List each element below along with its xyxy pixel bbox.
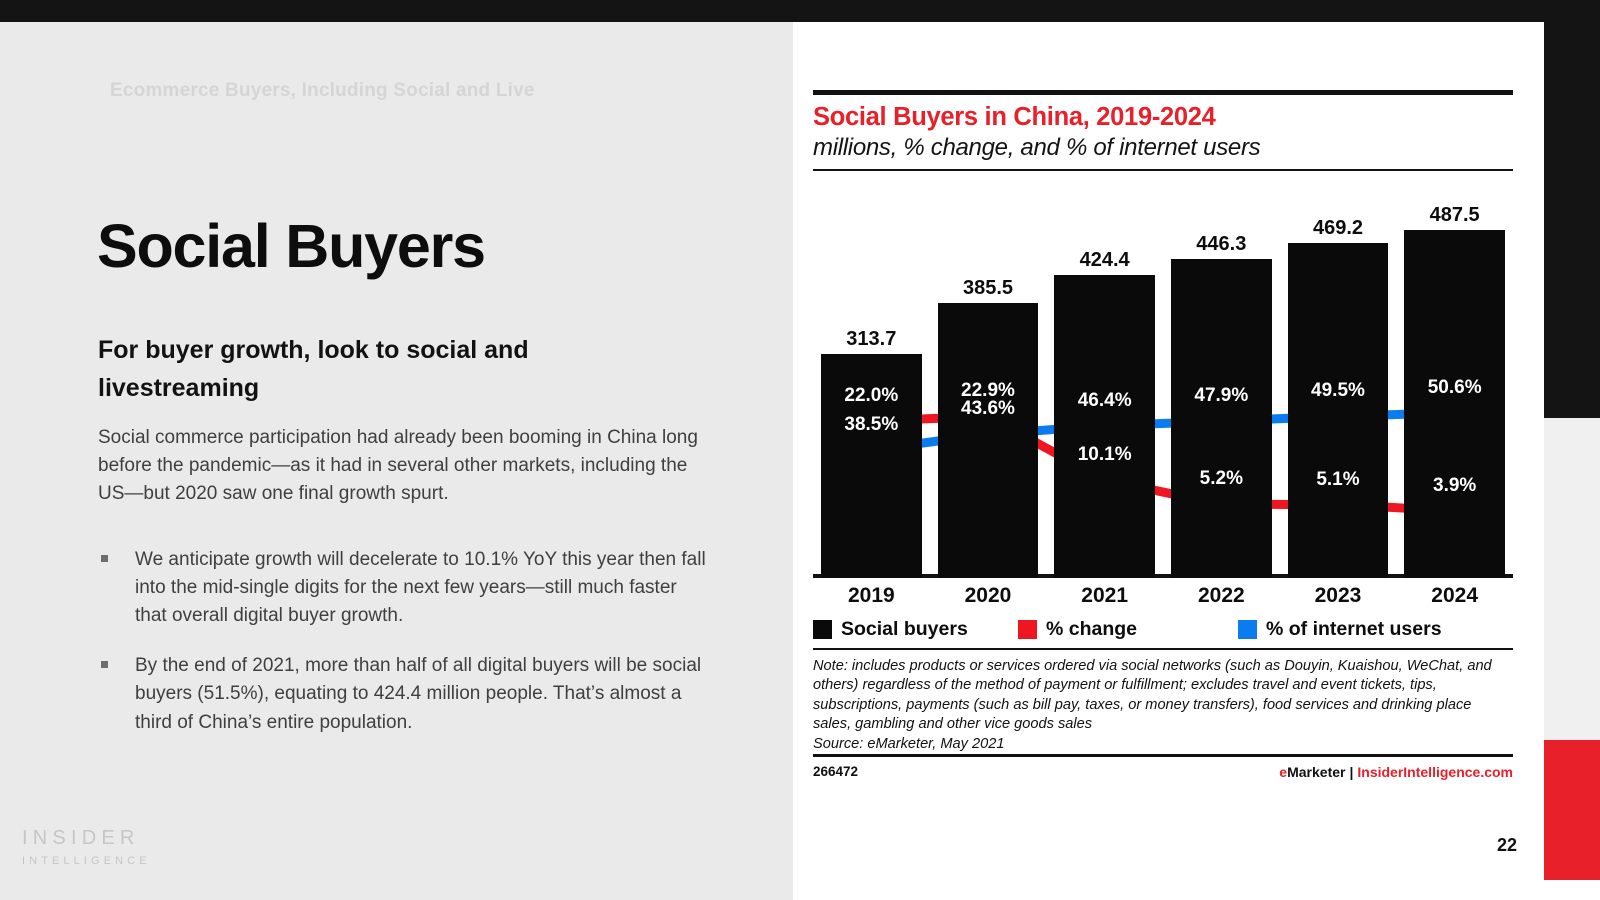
bar-value-label: 469.2 [1280, 217, 1397, 240]
bar-2022 [1171, 259, 1272, 578]
point-value-label: 47.9% [1163, 385, 1280, 407]
logo-line-1: INSIDER [22, 827, 151, 850]
point-value-label: 38.5% [813, 414, 930, 436]
card-top-rule [813, 90, 1513, 95]
note-top-rule [813, 648, 1513, 650]
list-item-text: By the end of 2021, more than half of al… [135, 655, 701, 732]
point-value-label: 49.5% [1280, 380, 1397, 402]
page-title: Social Buyers [97, 216, 757, 277]
x-tick-2023: 2023 [1280, 584, 1397, 608]
legend-swatch-icon [813, 620, 832, 639]
bar-value-label: 487.5 [1396, 204, 1513, 227]
top-bar [0, 0, 1600, 22]
chart-legend: Social buyers% change% of internet users [813, 618, 1513, 648]
insider-intelligence-logo: INSIDER INTELLIGENCE [22, 827, 151, 867]
legend-label: Social buyers [841, 618, 968, 641]
right-edge-dark-band [1544, 22, 1600, 418]
legend-label: % of internet users [1266, 618, 1442, 641]
chart-subtitle: millions, % change, and % of internet us… [813, 134, 1513, 162]
section-eyebrow: Ecommerce Buyers, Including Social and L… [110, 80, 730, 102]
legend-swatch-icon [1238, 620, 1257, 639]
brand-attribution: eMarketer|InsiderIntelligence.com [1279, 764, 1513, 780]
point-value-label: 22.0% [813, 385, 930, 407]
legend-item--of-internet-users[interactable]: % of internet users [1238, 618, 1442, 641]
chart-header-rule [813, 169, 1513, 171]
x-axis-tick-labels: 201920202021202220232024 [813, 578, 1513, 612]
bullet-square-icon [101, 555, 108, 562]
chart-footer: 266472 eMarketer|InsiderIntelligence.com [813, 761, 1513, 787]
list-item: We anticipate growth will decelerate to … [98, 546, 708, 630]
point-value-label: 10.1% [1046, 444, 1163, 466]
chart-plot-area: 313.7385.5424.4446.3469.2487.522.0%22.9%… [813, 178, 1513, 578]
point-value-label: 50.6% [1396, 377, 1513, 399]
chart-note: Note: includes products or services orde… [813, 657, 1513, 735]
x-tick-2019: 2019 [813, 584, 930, 608]
x-tick-2021: 2021 [1046, 584, 1163, 608]
right-edge-gray-band [1544, 418, 1600, 740]
point-value-label: 5.2% [1163, 468, 1280, 490]
chart-id: 266472 [813, 764, 858, 779]
chart-source: Source: eMarketer, May 2021 [813, 735, 1513, 754]
bar-value-label: 385.5 [930, 277, 1047, 300]
chart-card: Social Buyers in China, 2019-2024 millio… [813, 90, 1513, 787]
right-edge-red-band [1544, 740, 1600, 880]
list-item: By the end of 2021, more than half of al… [98, 652, 708, 736]
footer-rule [813, 754, 1513, 757]
bullet-list: We anticipate growth will decelerate to … [98, 546, 708, 759]
chart-title: Social Buyers in China, 2019-2024 [813, 103, 1513, 132]
brand-divider: | [1349, 764, 1353, 780]
bar-2024 [1404, 230, 1505, 578]
point-value-label: 43.6% [930, 398, 1047, 420]
legend-item--change[interactable]: % change [1018, 618, 1137, 641]
legend-item-social-buyers[interactable]: Social buyers [813, 618, 968, 641]
subheading: For buyer growth, look to social and liv… [98, 332, 638, 407]
bar-value-label: 424.4 [1046, 249, 1163, 272]
point-value-label: 3.9% [1396, 475, 1513, 497]
legend-label: % change [1046, 618, 1137, 641]
page-number: 22 [1497, 835, 1517, 856]
x-tick-2020: 2020 [930, 584, 1047, 608]
legend-swatch-icon [1018, 620, 1037, 639]
insiderintelligence-url: InsiderIntelligence.com [1357, 764, 1513, 780]
bar-value-label: 313.7 [813, 328, 930, 351]
point-value-label: 46.4% [1046, 390, 1163, 412]
emarketer-word: Marketer [1287, 764, 1345, 780]
body-paragraph: Social commerce participation had alread… [98, 424, 698, 508]
slide-canvas: Ecommerce Buyers, Including Social and L… [0, 0, 1600, 900]
bar-2021 [1054, 275, 1155, 578]
bar-2023 [1288, 243, 1389, 578]
x-tick-2024: 2024 [1396, 584, 1513, 608]
x-tick-2022: 2022 [1163, 584, 1280, 608]
bullet-square-icon [101, 661, 108, 668]
logo-line-2: INTELLIGENCE [22, 855, 151, 867]
bar-value-label: 446.3 [1163, 233, 1280, 256]
emarketer-e: e [1279, 764, 1287, 780]
point-value-label: 5.1% [1280, 469, 1397, 491]
bar-2020 [938, 303, 1039, 578]
list-item-text: We anticipate growth will decelerate to … [135, 549, 706, 626]
